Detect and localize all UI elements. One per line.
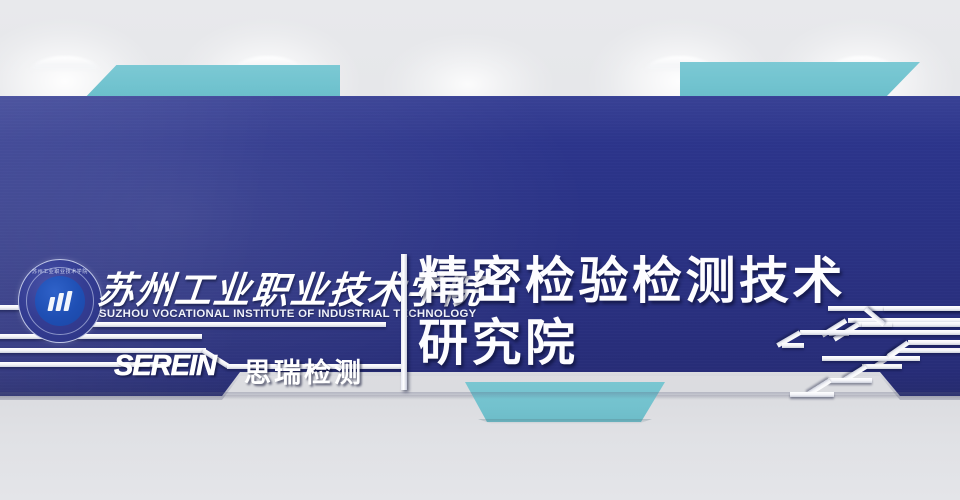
institute-title-line-2: 研究院 bbox=[418, 312, 948, 374]
teal-accent-shadow bbox=[478, 419, 652, 424]
crest-monogram-icon bbox=[47, 291, 72, 311]
university-name-cn: 苏州工业职业技术学院 bbox=[95, 260, 401, 314]
university-crest-icon: 苏州工业职业技术学院 bbox=[18, 259, 102, 343]
signage-scene: 苏州工业职业技术学院 苏州工业职业技术学院 SUZHOU VOCATIONAL … bbox=[0, 0, 960, 500]
partner-brand-cn: 思瑞检测 bbox=[244, 351, 364, 390]
board-content: 苏州工业职业技术学院 苏州工业职业技术学院 SUZHOU VOCATIONAL … bbox=[0, 96, 960, 396]
crest-arc-text-top: 苏州工业职业技术学院 bbox=[32, 268, 88, 275]
institute-title: 精密检验检测技术 研究院 bbox=[418, 250, 948, 374]
vertical-divider bbox=[401, 254, 407, 390]
partner-brand-en: SEREIN bbox=[114, 350, 216, 383]
university-name-en: SUZHOU VOCATIONAL INSTITUTE OF INDUSTRIA… bbox=[99, 308, 399, 320]
institute-title-line-1: 精密检验检测技术 bbox=[418, 250, 948, 312]
floor-surface bbox=[0, 395, 960, 500]
